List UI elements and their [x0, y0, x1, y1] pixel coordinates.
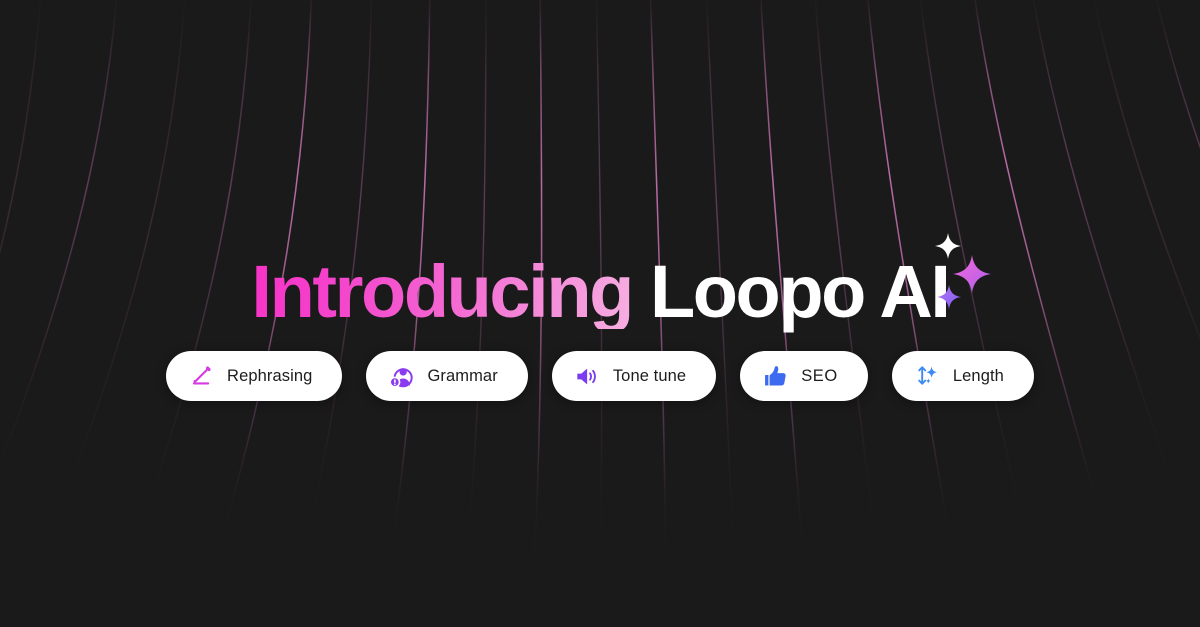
- headline-accent-text: Introducing: [251, 255, 636, 329]
- headline-brand-text: Loopo AI: [636, 255, 949, 329]
- feature-pill-row: Rephrasing Grammar: [0, 351, 1200, 401]
- sparkle-cluster: [933, 233, 993, 321]
- feature-pill-label: Grammar: [427, 367, 497, 386]
- feature-pill-label: Length: [953, 367, 1004, 386]
- promo-banner: Introducing Loopo AI: [0, 0, 1200, 627]
- feature-pill-rephrasing[interactable]: Rephrasing: [166, 351, 342, 401]
- feature-pill-grammar[interactable]: Grammar: [366, 351, 527, 401]
- resize-sparkle-icon: [914, 363, 940, 389]
- thumbs-up-icon: [762, 363, 788, 389]
- feature-pill-length[interactable]: Length: [892, 351, 1034, 401]
- feature-pill-label: SEO: [801, 367, 838, 386]
- user-alert-icon: [388, 363, 414, 389]
- speaker-icon: [574, 363, 600, 389]
- feature-pill-tone-tune[interactable]: Tone tune: [552, 351, 716, 401]
- feature-pill-label: Rephrasing: [227, 367, 312, 386]
- headline: Introducing Loopo AI: [251, 255, 948, 329]
- pencil-icon: [188, 363, 214, 389]
- hero-section: Introducing Loopo AI: [0, 0, 1200, 627]
- feature-pill-seo[interactable]: SEO: [740, 351, 868, 401]
- feature-pill-label: Tone tune: [613, 367, 686, 386]
- sparkle-small-purple-icon: [937, 285, 961, 309]
